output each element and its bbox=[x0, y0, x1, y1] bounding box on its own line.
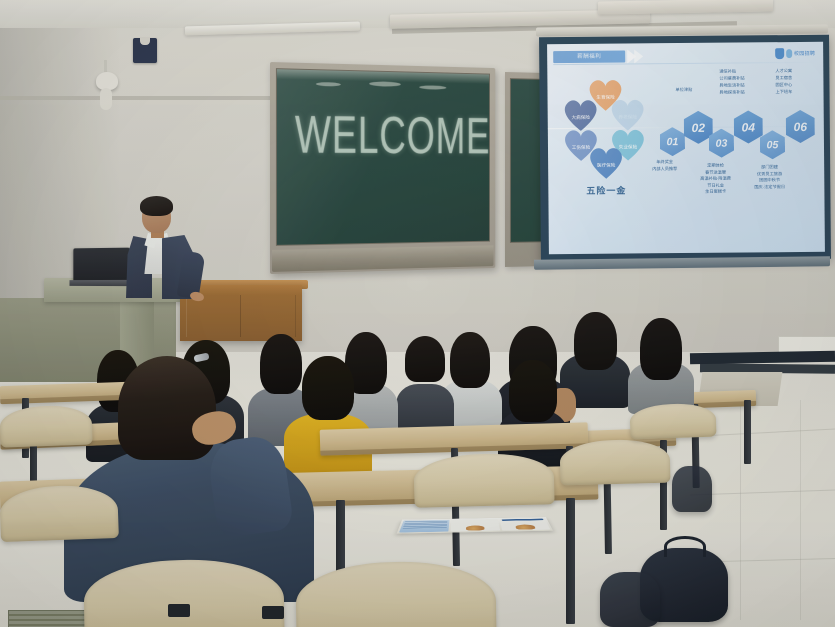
chair-back bbox=[0, 404, 93, 447]
floor-tile-line bbox=[740, 400, 741, 620]
slide-banner-label: 薪酬福利 bbox=[553, 51, 625, 64]
speaker-icon bbox=[133, 38, 157, 63]
person-hair bbox=[450, 332, 490, 388]
logo-mark-secondary-icon bbox=[786, 49, 792, 58]
benefits-heart-cluster: 生育保险 养老保险 大病保险 bbox=[557, 75, 654, 184]
brochure-panel-right bbox=[499, 518, 550, 530]
blackboard-surface: WELCOME bbox=[276, 68, 490, 246]
person-hair bbox=[640, 318, 682, 380]
presentation-slide: 薪酬福利 校园招聘 生育保险 bbox=[547, 42, 825, 254]
caption-line: 生日蛋糕卡 bbox=[700, 189, 731, 196]
audience-person bbox=[498, 360, 568, 470]
heart-label: 工伤保险 bbox=[572, 145, 590, 150]
hexagon-03-caption: 定期体检 春节送温暖 高温补贴·降温费 节日礼金 生日蛋糕卡 bbox=[700, 163, 731, 196]
camera-body bbox=[100, 88, 112, 110]
backpack bbox=[600, 572, 660, 627]
benefit-line: 员工宿舍 bbox=[775, 75, 792, 82]
heart-label: 生育保险 bbox=[596, 95, 614, 100]
benefit-line: 异地生活补贴 bbox=[719, 82, 744, 89]
person-hair bbox=[574, 312, 617, 370]
hexagon-05-caption: 部门团建 优秀员工旅游 团圆中秋节 国庆·法定节假日 bbox=[754, 164, 785, 190]
wall-trim bbox=[0, 96, 300, 100]
heart-label: 医疗保险 bbox=[597, 163, 615, 168]
hexagon-step-06: 06 bbox=[786, 110, 815, 143]
benefit-column-left: 通信补贴 公司餐费补贴 异地生活补贴 异地探亲补贴 bbox=[719, 68, 744, 96]
person-arm bbox=[206, 433, 295, 539]
chair-clip bbox=[262, 606, 284, 619]
presenter bbox=[120, 196, 210, 306]
desk-leg bbox=[744, 400, 751, 464]
brochure-text-lines bbox=[403, 521, 448, 529]
brochure-image bbox=[515, 525, 536, 530]
hexagon-step-04: 04 bbox=[734, 110, 763, 143]
backpack-handle bbox=[664, 536, 706, 557]
person-hair bbox=[405, 336, 445, 382]
chair-clip bbox=[168, 604, 190, 617]
benefit-line: 公司餐费补贴 bbox=[719, 75, 744, 82]
benefit-line: 上下班车 bbox=[775, 89, 792, 96]
caption-line: 国庆·法定节假日 bbox=[754, 184, 785, 191]
allowance-caption: 单位津贴 bbox=[675, 87, 692, 94]
logo-mark-icon bbox=[775, 48, 784, 59]
hexagon-step-05: 05 bbox=[760, 130, 785, 159]
lectern-seam bbox=[240, 295, 241, 337]
hearts-caption: 五险一金 bbox=[558, 183, 654, 197]
slide-banner: 薪酬福利 bbox=[553, 51, 625, 64]
hexagon-step-02: 02 bbox=[684, 111, 713, 144]
blackboard: WELCOME bbox=[270, 62, 495, 274]
chalk-ledge bbox=[272, 245, 494, 272]
audience-person-foreground bbox=[64, 356, 314, 592]
chevron-right-icon bbox=[634, 49, 643, 63]
brochure-image bbox=[466, 525, 486, 530]
benefit-line: 园区中心 bbox=[775, 82, 792, 89]
heart-label: 失业保险 bbox=[619, 144, 637, 149]
logo-text: 校园招聘 bbox=[794, 50, 815, 57]
heart-label: 大病保险 bbox=[572, 115, 590, 120]
person-hair bbox=[509, 360, 557, 422]
brochure-panel-center bbox=[451, 519, 500, 532]
chalk-smudge bbox=[419, 85, 446, 89]
benefit-column-right: 人才公寓 员工宿舍 园区中心 上下班车 bbox=[775, 68, 792, 96]
floor-tile-line bbox=[800, 400, 801, 620]
chalk-smudge bbox=[316, 82, 341, 86]
presenter-hand bbox=[189, 291, 205, 303]
caption-line: 内部人员推荐 bbox=[652, 166, 677, 173]
brochure-header-bar bbox=[501, 519, 543, 521]
chalk-welcome-text: WELCOME bbox=[295, 105, 475, 166]
classroom-photo: WELCOME 薪酬福利 校园招聘 bbox=[0, 0, 835, 627]
heart-label: 养老保险 bbox=[619, 114, 637, 119]
brochure-panel-left bbox=[399, 520, 450, 533]
slide-logo: 校园招聘 bbox=[775, 48, 815, 59]
caption-line: 高温补贴·降温费 bbox=[700, 176, 731, 183]
audience-person bbox=[628, 316, 694, 408]
desk-leg bbox=[566, 498, 575, 624]
chair-back bbox=[559, 439, 670, 486]
hexagon-step-01: 01 bbox=[660, 127, 685, 156]
bag bbox=[672, 466, 712, 512]
presenter-hair bbox=[140, 196, 173, 216]
hexagon-01-caption: 年终奖金 内部人员推荐 bbox=[652, 159, 677, 172]
audience-person bbox=[396, 336, 454, 432]
projector-screen[interactable]: 薪酬福利 校园招聘 生育保险 bbox=[539, 35, 831, 262]
chalk-smudge bbox=[369, 81, 401, 87]
benefit-line: 异地探亲补贴 bbox=[719, 89, 744, 96]
heart-item: 医疗保险 bbox=[587, 146, 625, 180]
person-hair bbox=[118, 356, 216, 460]
